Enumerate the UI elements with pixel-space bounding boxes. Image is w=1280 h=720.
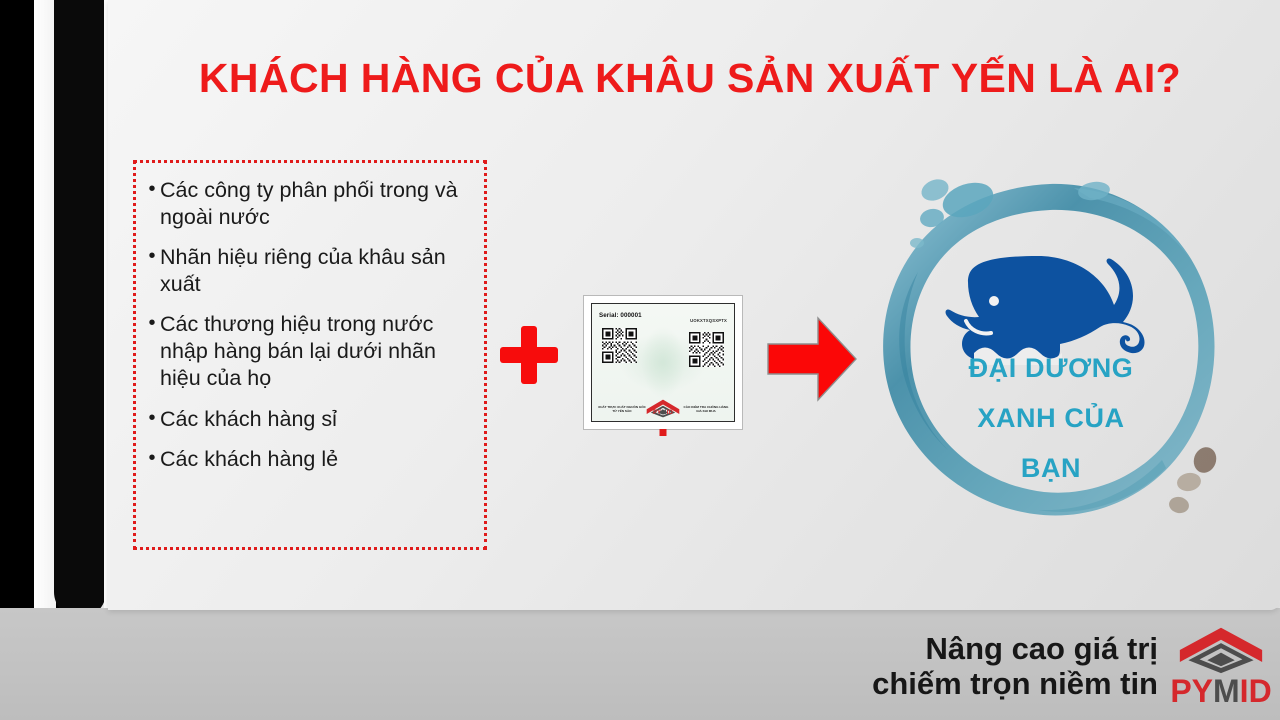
list-item: • Các khách hàng sỉ: [144, 406, 474, 433]
certificate-tick-marker: [660, 429, 667, 436]
pymid-word-id: ID: [1240, 673, 1272, 709]
pymid-word-m: M: [1213, 673, 1240, 709]
bullet-marker-icon: •: [144, 177, 160, 202]
pymid-wordmark: PYMID: [1168, 675, 1274, 707]
ocean-logo-line3: BẠN: [862, 453, 1240, 484]
footer: Nâng cao giá trị chiếm trọn niềm tin PYM…: [830, 612, 1280, 720]
footer-pymid-logo: PYMID: [1168, 626, 1280, 707]
pymid-word-id: ID: [667, 410, 673, 416]
pymid-mark-icon: [646, 399, 680, 410]
frame-white-gap-outer: [34, 0, 56, 620]
bullet-marker-icon: •: [144, 244, 160, 269]
list-item-label: Các khách hàng sỉ: [160, 406, 474, 433]
list-item: • Các công ty phân phối trong và ngoài n…: [144, 177, 474, 231]
bullet-list: • Các công ty phân phối trong và ngoài n…: [144, 177, 474, 473]
qr-code-icon: [602, 328, 637, 363]
arrow-right-svg: [766, 313, 858, 405]
bullet-marker-icon: •: [144, 446, 160, 471]
qr-left-svg: [602, 328, 637, 363]
list-item-label: Các công ty phân phối trong và ngoài nướ…: [160, 177, 474, 231]
ocean-logo: ĐẠI DƯƠNG XANH CỦA BẠN: [862, 160, 1240, 538]
ocean-logo-line1: ĐẠI DƯƠNG: [862, 353, 1240, 384]
list-item-label: Các khách hàng lẻ: [160, 446, 474, 473]
slide-canvas: KHÁCH HÀNG CỦA KHÂU SẢN XUẤT YẾN LÀ AI? …: [0, 0, 1280, 720]
bullet-box: • Các công ty phân phối trong và ngoài n…: [133, 160, 487, 550]
pymid-mark-svg: [1168, 626, 1274, 674]
plus-icon: [500, 326, 558, 384]
certificate-serial: Serial: 000001: [599, 312, 642, 319]
certificate-pymid-logo: PYMID: [646, 399, 680, 417]
list-item-label: Nhãn hiệu riêng của khâu sản xuất: [160, 244, 474, 298]
pymid-word-py: PY: [1170, 673, 1213, 709]
certificate-code: UOKXTXQSXPTX: [690, 318, 727, 323]
frame-black-band-inner: [54, 0, 106, 618]
certificate-inner: Serial: 000001 UOKXTXQSXPTX: [591, 303, 735, 422]
plus-vertical-bar: [521, 326, 537, 384]
certificate-caption-right: CÀO KIỂM TRA CHỐNG HÀNG GIẢ KHI MUA: [682, 405, 730, 414]
qr-code-icon: [689, 332, 724, 367]
footer-tagline-line1: Nâng cao giá trị: [872, 631, 1158, 666]
list-item: • Các thương hiệu trong nước nhập hàng b…: [144, 311, 474, 392]
certificate-caption-left: XUẤT TRỰC XUẤT NGUỒN GỐC TỪ YẾN SÀO: [598, 405, 646, 414]
whale-icon: [946, 256, 1145, 360]
page-title: KHÁCH HÀNG CỦA KHÂU SẢN XUẤT YẾN LÀ AI?: [130, 55, 1250, 102]
footer-tagline: Nâng cao giá trị chiếm trọn niềm tin: [872, 631, 1168, 702]
certificate-card: Serial: 000001 UOKXTXQSXPTX: [583, 295, 743, 430]
list-item: • Các khách hàng lẻ: [144, 446, 474, 473]
bullet-marker-icon: •: [144, 406, 160, 431]
list-item: • Nhãn hiệu riêng của khâu sản xuất: [144, 244, 474, 298]
footer-tagline-line2: chiếm trọn niềm tin: [872, 666, 1158, 701]
pymid-mark-icon: [1168, 626, 1274, 674]
ocean-logo-line2: XANH CỦA: [862, 403, 1240, 434]
list-item-label: Các thương hiệu trong nước nhập hàng bán…: [160, 311, 474, 392]
bullet-marker-icon: •: [144, 311, 160, 336]
qr-right-svg: [689, 332, 724, 367]
arrow-right-icon: [766, 313, 858, 405]
